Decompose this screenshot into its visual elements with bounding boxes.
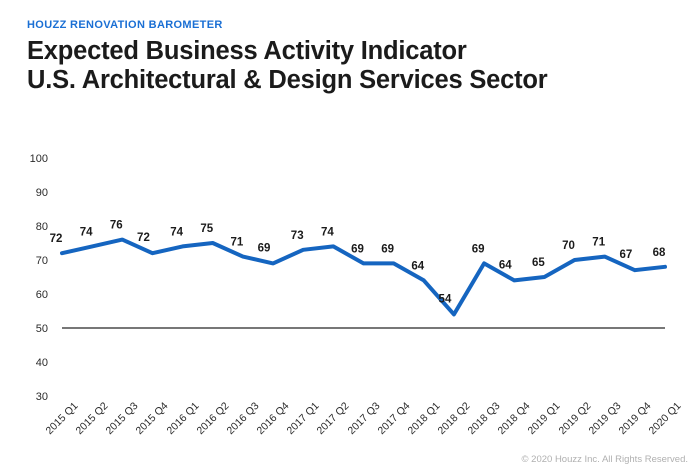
data-point-label: 70 <box>562 240 575 252</box>
x-axis-tick-label: 2018 Q2 <box>435 400 472 437</box>
x-axis-tick-label: 2019 Q4 <box>616 400 653 437</box>
page-title-line-2: U.S. Architectural & Design Services Sec… <box>27 66 667 95</box>
line-chart-svg: 10090807060504030 7274767274757169737469… <box>0 140 700 415</box>
data-point-label: 64 <box>411 260 424 272</box>
y-axis-tick-label: 100 <box>30 153 48 165</box>
data-point-label: 68 <box>653 247 666 259</box>
x-axis-tick-label: 2017 Q1 <box>285 400 322 437</box>
data-point-label: 74 <box>80 226 93 238</box>
x-axis-tick-label: 2016 Q4 <box>255 400 292 437</box>
y-axis-ticks: 10090807060504030 <box>30 153 48 403</box>
data-point-label: 69 <box>351 243 364 255</box>
x-axis-tick-label: 2020 Q1 <box>647 400 684 437</box>
data-point-label: 72 <box>137 232 150 244</box>
chart-header: HOUZZ RENOVATION BAROMETER Expected Busi… <box>27 18 667 95</box>
data-point-label: 69 <box>258 242 271 254</box>
x-axis-tick-label: 2015 Q2 <box>74 400 111 437</box>
x-axis-labels: 2015 Q12015 Q22015 Q32015 Q42016 Q12016 … <box>0 398 700 453</box>
data-point-label: 76 <box>110 220 123 232</box>
x-axis-tick-label: 2017 Q4 <box>375 400 412 437</box>
data-point-label: 75 <box>200 223 213 235</box>
data-point-label: 65 <box>532 257 545 269</box>
x-axis-tick-label: 2017 Q3 <box>345 400 382 437</box>
x-axis-tick-label: 2017 Q2 <box>315 400 352 437</box>
page-title-line-1: Expected Business Activity Indicator <box>27 37 667 66</box>
data-point-label: 54 <box>439 293 452 305</box>
y-axis-tick-label: 60 <box>36 289 48 301</box>
data-point-label: 73 <box>291 230 304 242</box>
data-point-label: 74 <box>170 226 183 238</box>
x-axis-tick-label: 2015 Q3 <box>104 400 141 437</box>
x-axis-tick-label: 2016 Q1 <box>164 400 201 437</box>
chart-page: HOUZZ RENOVATION BAROMETER Expected Busi… <box>0 0 700 473</box>
data-point-label: 64 <box>499 259 512 271</box>
eyebrow-label: HOUZZ RENOVATION BAROMETER <box>27 18 667 32</box>
y-axis-tick-label: 80 <box>36 221 48 233</box>
x-axis-tick-label: 2018 Q3 <box>466 400 503 437</box>
x-axis-tick-label: 2019 Q2 <box>556 400 593 437</box>
x-axis-tick-label: 2015 Q4 <box>134 400 171 437</box>
x-axis-tick-label: 2016 Q3 <box>224 400 261 437</box>
x-axis-tick-label: 2015 Q1 <box>44 400 81 437</box>
y-axis-tick-label: 90 <box>36 187 48 199</box>
data-point-label: 72 <box>50 233 63 245</box>
x-axis-tick-label: 2019 Q1 <box>526 400 563 437</box>
y-axis-tick-label: 40 <box>36 357 48 369</box>
data-point-label: 71 <box>592 237 605 249</box>
y-axis-tick-label: 50 <box>36 323 48 335</box>
x-axis-tick-label: 2019 Q3 <box>586 400 623 437</box>
data-point-label: 71 <box>231 237 244 249</box>
copyright-notice: © 2020 Houzz Inc. All Rights Reserved. <box>522 454 688 465</box>
data-point-label: 69 <box>472 243 485 255</box>
x-axis-tick-label: 2016 Q2 <box>194 400 231 437</box>
chart-plot-area: 10090807060504030 7274767274757169737469… <box>0 140 700 415</box>
data-point-label: 69 <box>381 243 394 255</box>
x-axis-tick-label: 2018 Q4 <box>496 400 533 437</box>
y-axis-tick-label: 70 <box>36 255 48 267</box>
x-axis-tick-label: 2018 Q1 <box>405 400 442 437</box>
data-point-label: 74 <box>321 226 334 238</box>
data-point-label: 67 <box>619 249 632 261</box>
